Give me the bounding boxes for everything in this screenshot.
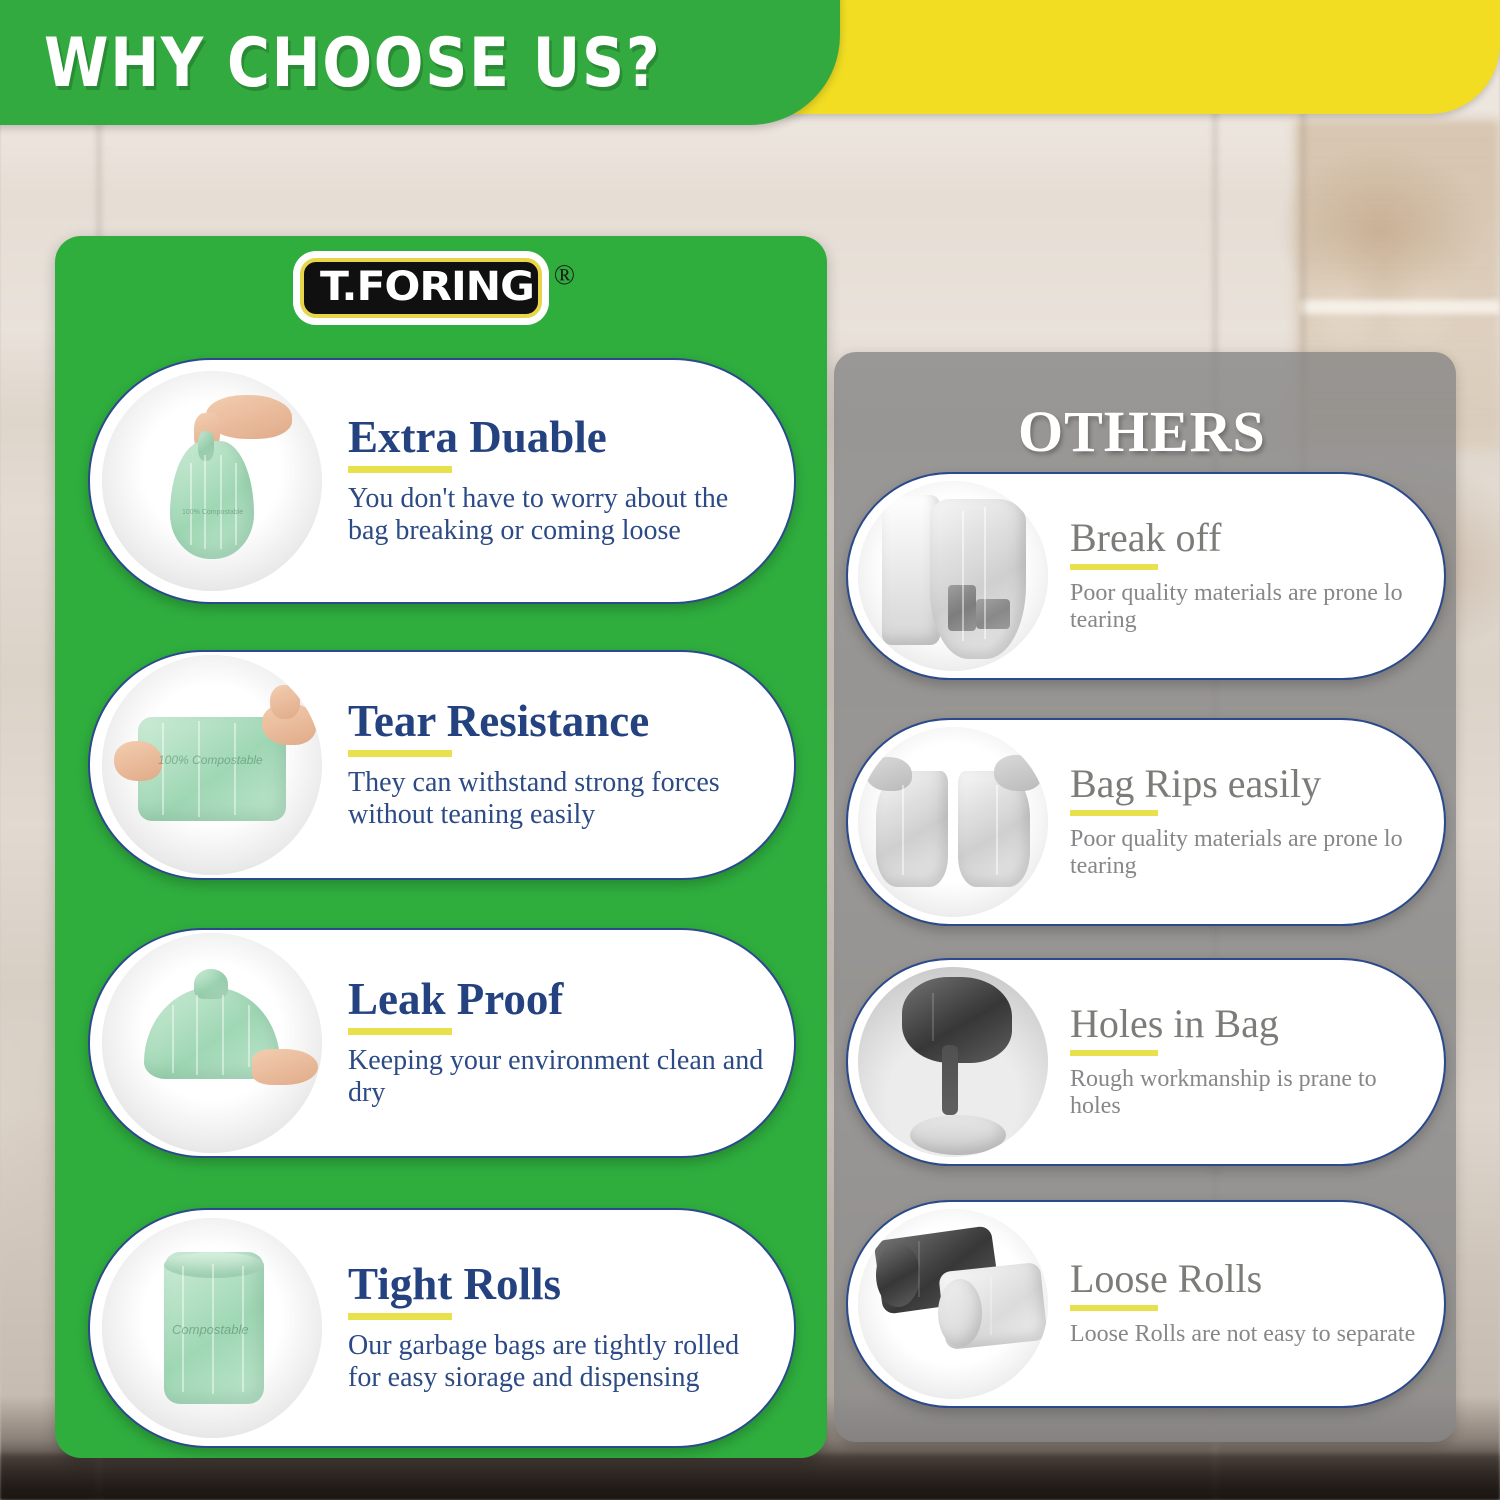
feature-description: You don't have to worry about the bag br… <box>348 483 772 547</box>
drawback-image-ripping-bag <box>858 727 1048 917</box>
feature-card-leak-proof: Leak Proof Keeping your environment clea… <box>88 928 796 1158</box>
title-underline-accent <box>1070 810 1158 816</box>
others-heading: OTHERS <box>1018 398 1266 465</box>
bag-label-text: 100% Compostable <box>182 509 243 516</box>
feature-card-tear-resistance: 100% Compostable Tear Resistance They ca… <box>88 650 796 880</box>
bag-label-text: 100% Compostable <box>158 753 263 767</box>
feature-text-block: Tear Resistance They can withstand stron… <box>322 699 794 831</box>
drawback-title: Loose Rolls <box>1070 1259 1426 1300</box>
title-underline-accent <box>348 1028 452 1035</box>
feature-title: Extra Duable <box>348 415 772 461</box>
background-counter-strip <box>0 1454 1500 1500</box>
drawback-title: Break off <box>1070 518 1426 559</box>
feature-description: Our garbage bags are tightly rolled for … <box>348 1330 772 1394</box>
registered-trademark-icon: ® <box>554 260 575 292</box>
feature-title: Leak Proof <box>348 977 772 1023</box>
bag-label-text: Compostable <box>172 1322 249 1337</box>
drawback-card-break-off: Break off Poor quality materials are pro… <box>846 472 1446 680</box>
logo-text: T.FORING <box>320 267 534 307</box>
background-shelf-line <box>1300 300 1500 314</box>
feature-description: Keeping your environment clean and dry <box>348 1045 772 1109</box>
drawback-description: Poor quality materials are prone lo tear… <box>1070 826 1426 881</box>
drawback-image-loose-rolls <box>858 1209 1048 1399</box>
drawback-text-block: Break off Poor quality materials are pro… <box>1048 518 1444 635</box>
logo-plate: T.FORING <box>300 258 542 318</box>
title-underline-accent <box>348 750 452 757</box>
drawback-card-bag-rips: Bag Rips easily Poor quality materials a… <box>846 718 1446 926</box>
drawback-title: Holes in Bag <box>1070 1004 1426 1045</box>
title-underline-accent <box>1070 1050 1158 1056</box>
drawback-title: Bag Rips easily <box>1070 764 1426 805</box>
drawback-description: Poor quality materials are prone lo tear… <box>1070 580 1426 635</box>
drawback-text-block: Bag Rips easily Poor quality materials a… <box>1048 764 1444 881</box>
drawback-image-torn-bag <box>858 481 1048 671</box>
feature-card-extra-durable: 100% Compostable Extra Duable You don't … <box>88 358 796 604</box>
drawback-description: Loose Rolls are not easy to separate <box>1070 1321 1426 1348</box>
feature-description: They can withstand strong forces without… <box>348 767 772 831</box>
feature-title: Tight Rolls <box>348 1262 772 1308</box>
feature-image-tight-roll: Compostable <box>102 1218 322 1438</box>
feature-image-knotted-bag <box>102 933 322 1153</box>
header-yellow-banner <box>760 0 1500 114</box>
title-underline-accent <box>348 466 452 473</box>
drawback-description: Rough workmanship is prane to holes <box>1070 1066 1426 1121</box>
feature-text-block: Tight Rolls Our garbage bags are tightly… <box>322 1262 794 1394</box>
drawback-card-holes-in-bag: Holes in Bag Rough workmanship is prane … <box>846 958 1446 1166</box>
drawback-image-leaking-bag <box>858 967 1048 1157</box>
drawback-card-loose-rolls: Loose Rolls Loose Rolls are not easy to … <box>846 1200 1446 1408</box>
drawback-text-block: Loose Rolls Loose Rolls are not easy to … <box>1048 1259 1444 1348</box>
feature-title: Tear Resistance <box>348 699 772 745</box>
feature-text-block: Leak Proof Keeping your environment clea… <box>322 977 794 1109</box>
feature-text-block: Extra Duable You don't have to worry abo… <box>322 415 794 547</box>
drawback-text-block: Holes in Bag Rough workmanship is prane … <box>1048 1004 1444 1121</box>
title-underline-accent <box>1070 1305 1158 1311</box>
title-underline-accent <box>1070 564 1158 570</box>
feature-image-stretching-bag: 100% Compostable <box>102 655 322 875</box>
page-title: WHY CHOOSE US? <box>44 24 661 103</box>
title-underline-accent <box>348 1313 452 1320</box>
brand-logo: T.FORING ® <box>300 258 575 318</box>
feature-card-tight-rolls: Compostable Tight Rolls Our garbage bags… <box>88 1208 796 1448</box>
feature-image-hand-holding-bag: 100% Compostable <box>102 371 322 591</box>
